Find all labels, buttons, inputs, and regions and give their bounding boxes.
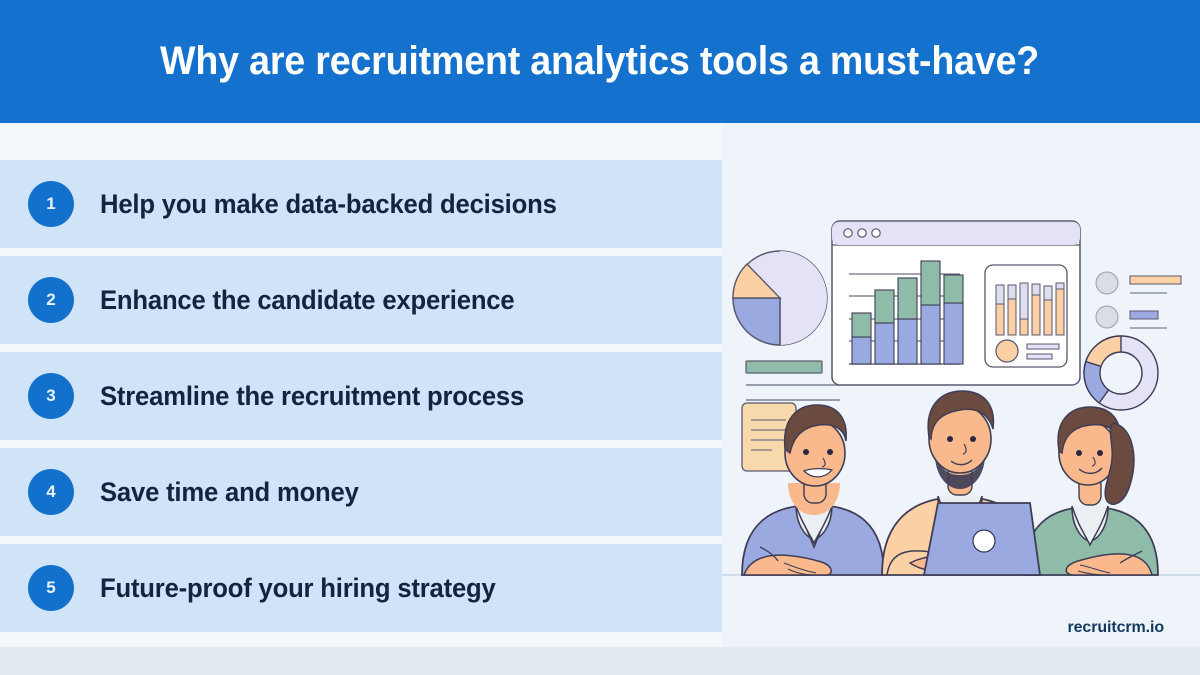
window-dot-icon <box>844 229 852 237</box>
donut-chart-icon <box>1084 336 1158 410</box>
list-item-label: Help you make data-backed decisions <box>100 189 557 220</box>
list-item-label: Streamline the recruitment process <box>100 381 524 412</box>
pie-chart-icon <box>733 251 827 345</box>
list-item-number-badge: 5 <box>28 565 74 611</box>
list-item: 2 Enhance the candidate experience <box>0 256 722 344</box>
list-item: 5 Future-proof your hiring strategy <box>0 544 722 632</box>
dashboard-window <box>832 221 1080 385</box>
list-item-number-badge: 2 <box>28 277 74 323</box>
list-item: 1 Help you make data-backed decisions <box>0 160 722 248</box>
list-item-number-badge: 1 <box>28 181 74 227</box>
avatar-icon <box>996 340 1018 362</box>
header-banner: Why are recruitment analytics tools a mu… <box>0 0 1200 123</box>
brand-logo-text: recruitcrm.io <box>1067 619 1164 637</box>
list-item: 3 Streamline the recruitment process <box>0 352 722 440</box>
list-item-number-badge: 4 <box>28 469 74 515</box>
bottom-strip <box>0 647 1200 675</box>
list-item-label: Save time and money <box>100 477 359 508</box>
page-title: Why are recruitment analytics tools a mu… <box>160 39 1039 84</box>
infographic-poster: Why are recruitment analytics tools a mu… <box>0 0 1200 675</box>
list-item: 4 Save time and money <box>0 448 722 536</box>
recruitment-analytics-illustration <box>722 123 1200 647</box>
window-dot-icon <box>858 229 866 237</box>
window-dot-icon <box>872 229 880 237</box>
gauge-card-icon <box>985 265 1067 367</box>
list-item-label: Future-proof your hiring strategy <box>100 573 496 604</box>
laptop-icon <box>924 503 1040 575</box>
benefits-list: 1 Help you make data-backed decisions 2 … <box>0 160 722 640</box>
list-item-number-badge: 3 <box>28 373 74 419</box>
list-item-label: Enhance the candidate experience <box>100 285 514 316</box>
